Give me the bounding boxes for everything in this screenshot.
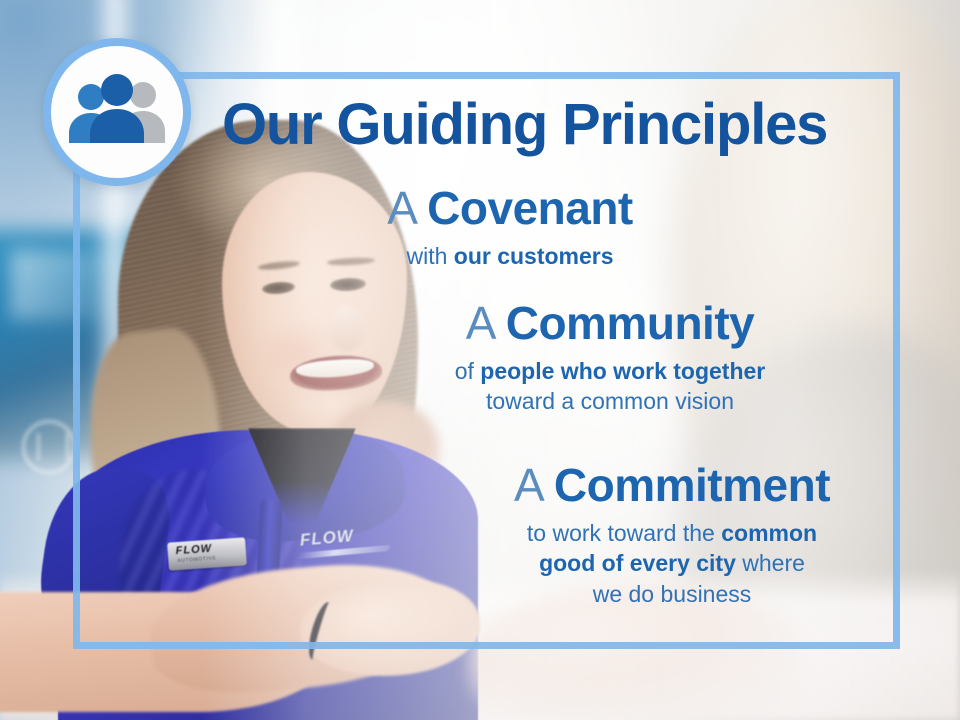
people-group-icon: [65, 73, 169, 151]
principle-subtext: with our customers: [345, 241, 675, 271]
principle-commitment: A Commitment to work toward the common g…: [448, 462, 896, 609]
principle-line: with our customers: [406, 243, 613, 269]
principle-covenant: A Covenant with our customers: [345, 185, 675, 271]
people-group-badge: [43, 38, 191, 186]
principle-line: good of every city where: [448, 548, 896, 578]
principle-line: we do business: [448, 579, 896, 609]
name-badge-subtext: AUTOMOTIVE: [177, 555, 216, 564]
principle-line: toward a common vision: [400, 386, 820, 416]
principle-article: A: [466, 297, 494, 349]
principle-article: A: [514, 459, 542, 511]
principle-line: of people who work together: [400, 356, 820, 386]
principle-heading: A Community: [400, 300, 820, 347]
principle-line: to work toward the common: [448, 518, 896, 548]
page-title: Our Guiding Principles: [222, 96, 922, 154]
principle-subtext: to work toward the common good of every …: [448, 518, 896, 609]
principle-keyword: Community: [506, 297, 755, 349]
principle-community: A Community of people who work together …: [400, 300, 820, 417]
principle-heading: A Commitment: [448, 462, 896, 509]
principle-keyword: Covenant: [427, 182, 633, 234]
principle-heading: A Covenant: [345, 185, 675, 232]
poster-canvas: FLOW AUTOMOTIVE FLOW: [0, 0, 960, 720]
photo-name-badge: FLOW AUTOMOTIVE: [167, 537, 247, 570]
principle-article: A: [387, 182, 415, 234]
principle-subtext: of people who work together toward a com…: [400, 356, 820, 417]
principle-keyword: Commitment: [554, 459, 830, 511]
